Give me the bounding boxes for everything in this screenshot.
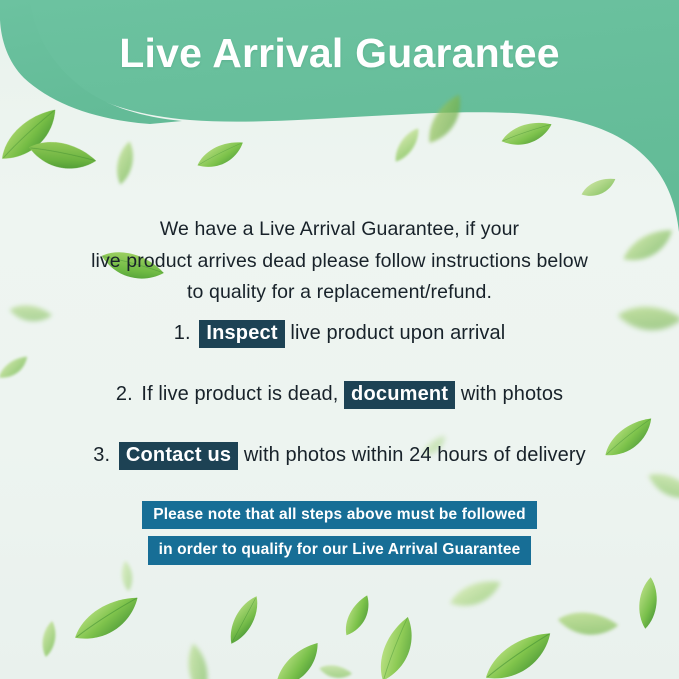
leaf-icon xyxy=(173,639,222,679)
step-highlight-contact-us[interactable]: Contact us xyxy=(119,442,238,470)
intro-line-3: to quality for a replacement/refund. xyxy=(50,277,629,309)
leaf-icon xyxy=(33,618,65,660)
page-title: Live Arrival Guarantee xyxy=(0,30,679,77)
steps-list: 1. Inspect live product upon arrival 2. … xyxy=(0,320,679,503)
note-line-2: in order to qualify for our Live Arrival… xyxy=(148,536,532,564)
step-number: 1. xyxy=(174,322,191,344)
step-number: 2. xyxy=(116,383,133,405)
leaf-icon xyxy=(211,585,276,655)
step-item-1: 1. Inspect live product upon arrival xyxy=(0,320,679,348)
leaf-icon xyxy=(498,114,556,157)
leaf-icon xyxy=(104,137,147,189)
step-text-after: with photos xyxy=(461,383,563,405)
step-item-2: 2. If live product is dead, document wit… xyxy=(0,381,679,409)
leaf-icon xyxy=(625,574,670,632)
step-text-before: If live product is dead, xyxy=(141,383,338,405)
step-highlight-inspect[interactable]: Inspect xyxy=(199,320,284,348)
leaf-icon xyxy=(63,584,153,661)
note-line-1: Please note that all steps above must be… xyxy=(142,501,537,529)
intro-line-2: live product arrives dead please follow … xyxy=(50,246,629,278)
leaf-icon xyxy=(445,573,507,620)
leaf-icon xyxy=(578,174,620,205)
step-item-3: 3. Contact us with photos within 24 hour… xyxy=(0,442,679,470)
live-arrival-guarantee-poster: Live Arrival Guarantee We have a Live Ar… xyxy=(0,0,679,679)
step-text-after: with photos within 24 hours of delivery xyxy=(244,444,586,466)
intro-line-1: We have a Live Arrival Guarantee, if you… xyxy=(50,214,629,246)
note-banner: Please note that all steps above must be… xyxy=(0,501,679,565)
leaf-icon xyxy=(551,596,623,655)
leaf-icon xyxy=(191,133,250,180)
step-highlight-document[interactable]: document xyxy=(344,381,455,409)
step-text-after: live product upon arrival xyxy=(290,322,505,344)
step-number: 3. xyxy=(93,444,110,466)
intro-paragraph: We have a Live Arrival Guarantee, if you… xyxy=(50,214,629,309)
